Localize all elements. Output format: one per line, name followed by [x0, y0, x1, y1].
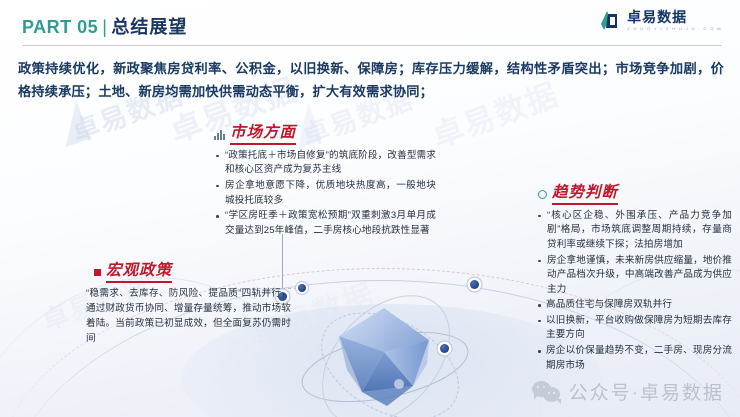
brand-logo: 卓易数据 Z H U O Y I S H U J U . C O M [598, 8, 722, 33]
bar-chart-icon [214, 129, 225, 140]
polyhedron-graphic [292, 258, 482, 417]
orbit-node [470, 280, 479, 289]
market-bullet-list: “政策托底＋市场自修复”的筑底阶段，改善型需求和核心区资产成为复苏主线 房企拿地… [214, 149, 436, 238]
logo-en-label: Z H U O Y I S H U J U . C O M [627, 26, 722, 31]
list-item: “学区房旺季＋政策宽松预期”双重刺激3月单月成交量达到25年峰值，二手房核心地段… [214, 209, 436, 238]
slide-canvas: 卓易数据 卓易数据 卓易数据 卓易数据 卓易数据 卓易数据 PART 05|总结… [0, 0, 740, 417]
part-number-label: PART 05 [22, 17, 98, 37]
list-item: 房企以价保量趋势不变，二手房、现房分流期房市场 [536, 344, 732, 373]
macro-block-title: 宏观政策 [106, 262, 172, 283]
connector-node [298, 284, 306, 292]
slide-header: PART 05|总结展望 卓易数据 Z H U O Y I S H U J U … [0, 0, 740, 47]
macro-block: 宏观政策 “稳需求、去库存、防风险、提品质”四轨并行，通过财政货币协同、增量存量… [86, 262, 291, 347]
macro-block-header: 宏观政策 [86, 262, 291, 283]
trend-block: 趋势判断 “核心区企稳、外围承压、产品力竞争加剧”格局，市场筑底调整周期持续，存… [536, 184, 732, 374]
wechat-watermark: 公众号·卓易数据 [532, 378, 724, 405]
macro-paragraph: “稳需求、去库存、防风险、提品质”四轨并行，通过财政货币协同、增量存量统筹，推动… [86, 287, 291, 347]
list-item: 高品质住宅与保障房双轨并行 [536, 298, 732, 313]
market-block-header: 市场方面 [214, 124, 436, 145]
list-item: 房企拿地意愿下降，优质地块热度高，一般地块城投托底较多 [214, 179, 436, 208]
market-block-title: 市场方面 [230, 124, 296, 145]
list-item: 房企拿地谨慎，未来新房供应缩量，地价推动产品档次升级，中高端改善产品成为供应主力 [536, 254, 732, 298]
circle-marker-icon [538, 190, 547, 199]
trend-bullet-list: “核心区企稳、外围承压、产品力竞争加剧”格局，市场筑底调整周期持续，存量商贷利率… [536, 209, 732, 373]
summary-paragraph: 政策持续优化，新政聚焦房贷利率、公积金，以旧换新、保障房；库存压力缓解，结构性矛… [18, 58, 724, 103]
trend-block-header: 趋势判断 [536, 184, 732, 205]
list-item: 以旧换新，平台收购做保障房为短期去库存主要方向 [536, 314, 732, 343]
section-title-label: 总结展望 [111, 17, 187, 37]
logo-wordmark: 卓易数据 Z H U O Y I S H U J U . C O M [627, 10, 722, 31]
icosahedron-icon [327, 306, 441, 410]
page-title: PART 05|总结展望 [22, 13, 187, 39]
trend-block-title: 趋势判断 [552, 184, 618, 205]
market-block: 市场方面 “政策托底＋市场自修复”的筑底阶段，改善型需求和核心区资产成为复苏主线… [214, 124, 436, 239]
title-separator: | [102, 17, 107, 37]
logo-cn-label: 卓易数据 [627, 10, 687, 24]
header-divider [22, 45, 722, 46]
logo-mark-icon [598, 8, 623, 33]
list-item: “核心区企稳、外围承压、产品力竞争加剧”格局，市场筑底调整周期持续，存量商贷利率… [536, 209, 732, 253]
list-item: “政策托底＋市场自修复”的筑底阶段，改善型需求和核心区资产成为复苏主线 [214, 149, 436, 178]
square-marker-icon [94, 269, 101, 276]
wechat-icon [532, 380, 562, 404]
orbit-node [440, 344, 449, 353]
wechat-label: 公众号·卓易数据 [569, 378, 724, 405]
